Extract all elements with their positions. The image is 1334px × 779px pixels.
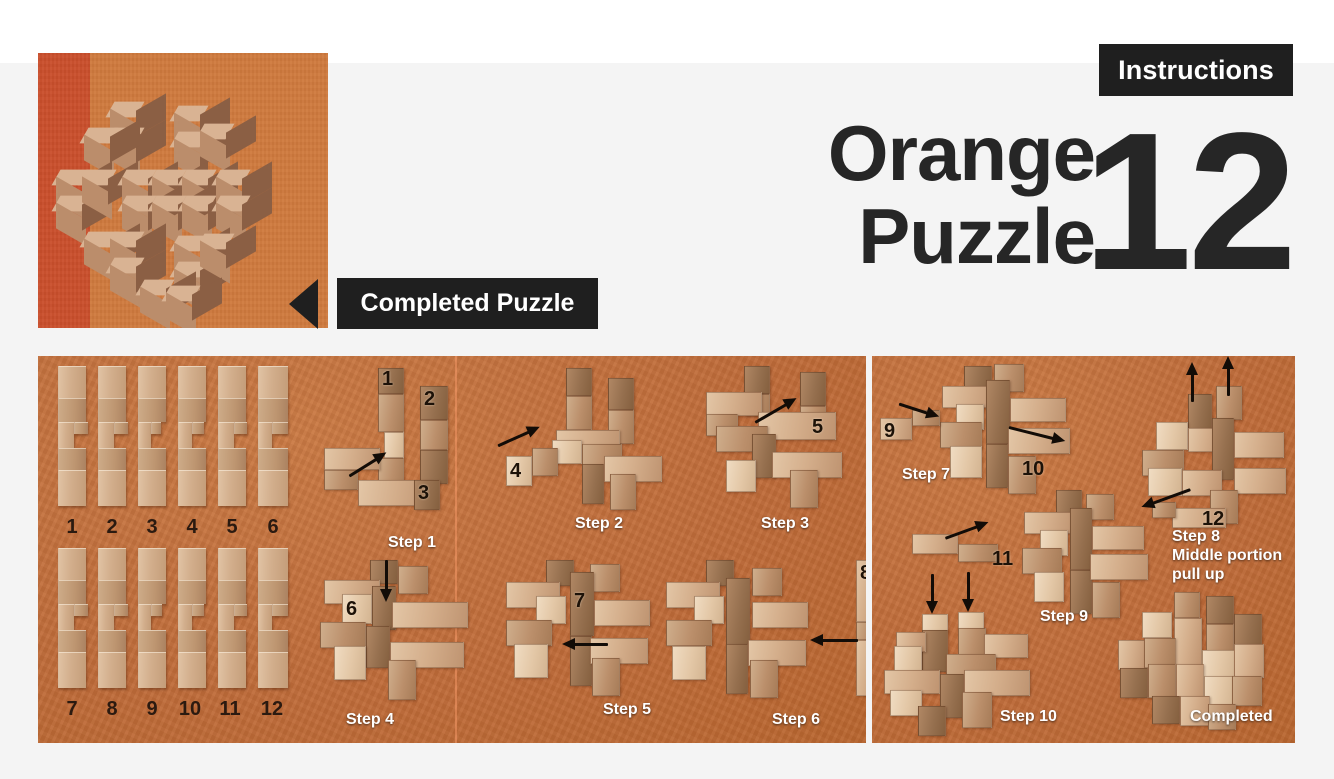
step-10-arrow-left (926, 574, 939, 614)
piece-label-1: 1 (52, 516, 92, 539)
step-7-piece-number-10: 10 (1022, 458, 1044, 481)
piece-label-2: 2 (92, 516, 132, 539)
piece-label-9: 9 (132, 698, 172, 721)
step-10-label: Step 10 (1000, 708, 1057, 727)
piece-label-7: 7 (52, 698, 92, 721)
step-1-piece-number-2: 2 (424, 388, 435, 411)
step-9-label: Step 9 (1040, 608, 1088, 627)
completed-label: Completed (1190, 708, 1273, 727)
step-2-label: Step 2 (575, 515, 623, 534)
step-9-piece-number-12: 12 (1202, 508, 1224, 531)
step-10-arrow-right (962, 572, 975, 612)
step-9-piece-number-11: 11 (992, 548, 1013, 571)
piece-label-10: 10 (170, 698, 210, 721)
piece-label-12: 12 (252, 698, 292, 721)
panel-fold-line (455, 356, 457, 743)
assembly-panel-left: 1 2 3 (38, 356, 866, 743)
piece-label-8: 8 (92, 698, 132, 721)
puzzle-number: 12 (1083, 104, 1293, 300)
step-1-piece-number-1: 1 (382, 368, 393, 391)
step-5-piece-number-7: 7 (574, 590, 585, 613)
assembly-panel-right: 9 10 Step 7 (872, 356, 1295, 743)
title-line-1: Orange (828, 118, 1095, 190)
instruction-sheet: Instructions Orange Puzzle 12 (0, 0, 1334, 779)
step-6-label: Step 6 (772, 711, 820, 730)
step-7-label: Step 7 (902, 466, 950, 485)
step-6-arrow (810, 634, 858, 647)
step-8-arrow-left (1186, 362, 1199, 402)
step-4-label: Step 4 (346, 711, 394, 730)
title-line-2: Puzzle (828, 201, 1095, 273)
page-title: Orange Puzzle (828, 118, 1095, 273)
step-4-piece-number-6: 6 (346, 598, 357, 621)
step-5-arrow (562, 638, 608, 651)
step-7-piece-number-9: 9 (884, 420, 895, 443)
step-4-arrow (380, 560, 393, 602)
step-3-label: Step 3 (761, 515, 809, 534)
step-8-arrow-right (1222, 356, 1235, 396)
step-3-piece-number-5: 5 (812, 416, 823, 439)
piece-label-3: 3 (132, 516, 172, 539)
step-1-piece-number-3: 3 (418, 482, 429, 505)
step-1-label: Step 1 (388, 534, 436, 553)
step-6-piece-number-8: 8 (860, 562, 866, 585)
step-8-label: Step 8 Middle portion pull up (1172, 528, 1282, 585)
piece-label-6: 6 (253, 516, 293, 539)
instructions-badge-label: Instructions (1118, 55, 1274, 86)
left-pointing-triangle-icon (289, 279, 318, 329)
step-5-label: Step 5 (603, 701, 651, 720)
piece-label-4: 4 (172, 516, 212, 539)
completed-puzzle-badge-label: Completed Puzzle (361, 289, 575, 318)
instructions-badge: Instructions (1099, 44, 1293, 96)
piece-label-5: 5 (212, 516, 252, 539)
step-2-piece-number-4: 4 (510, 460, 521, 483)
completed-puzzle-photo (38, 53, 328, 328)
completed-puzzle-badge: Completed Puzzle (337, 278, 598, 329)
piece-label-11: 11 (210, 698, 250, 721)
